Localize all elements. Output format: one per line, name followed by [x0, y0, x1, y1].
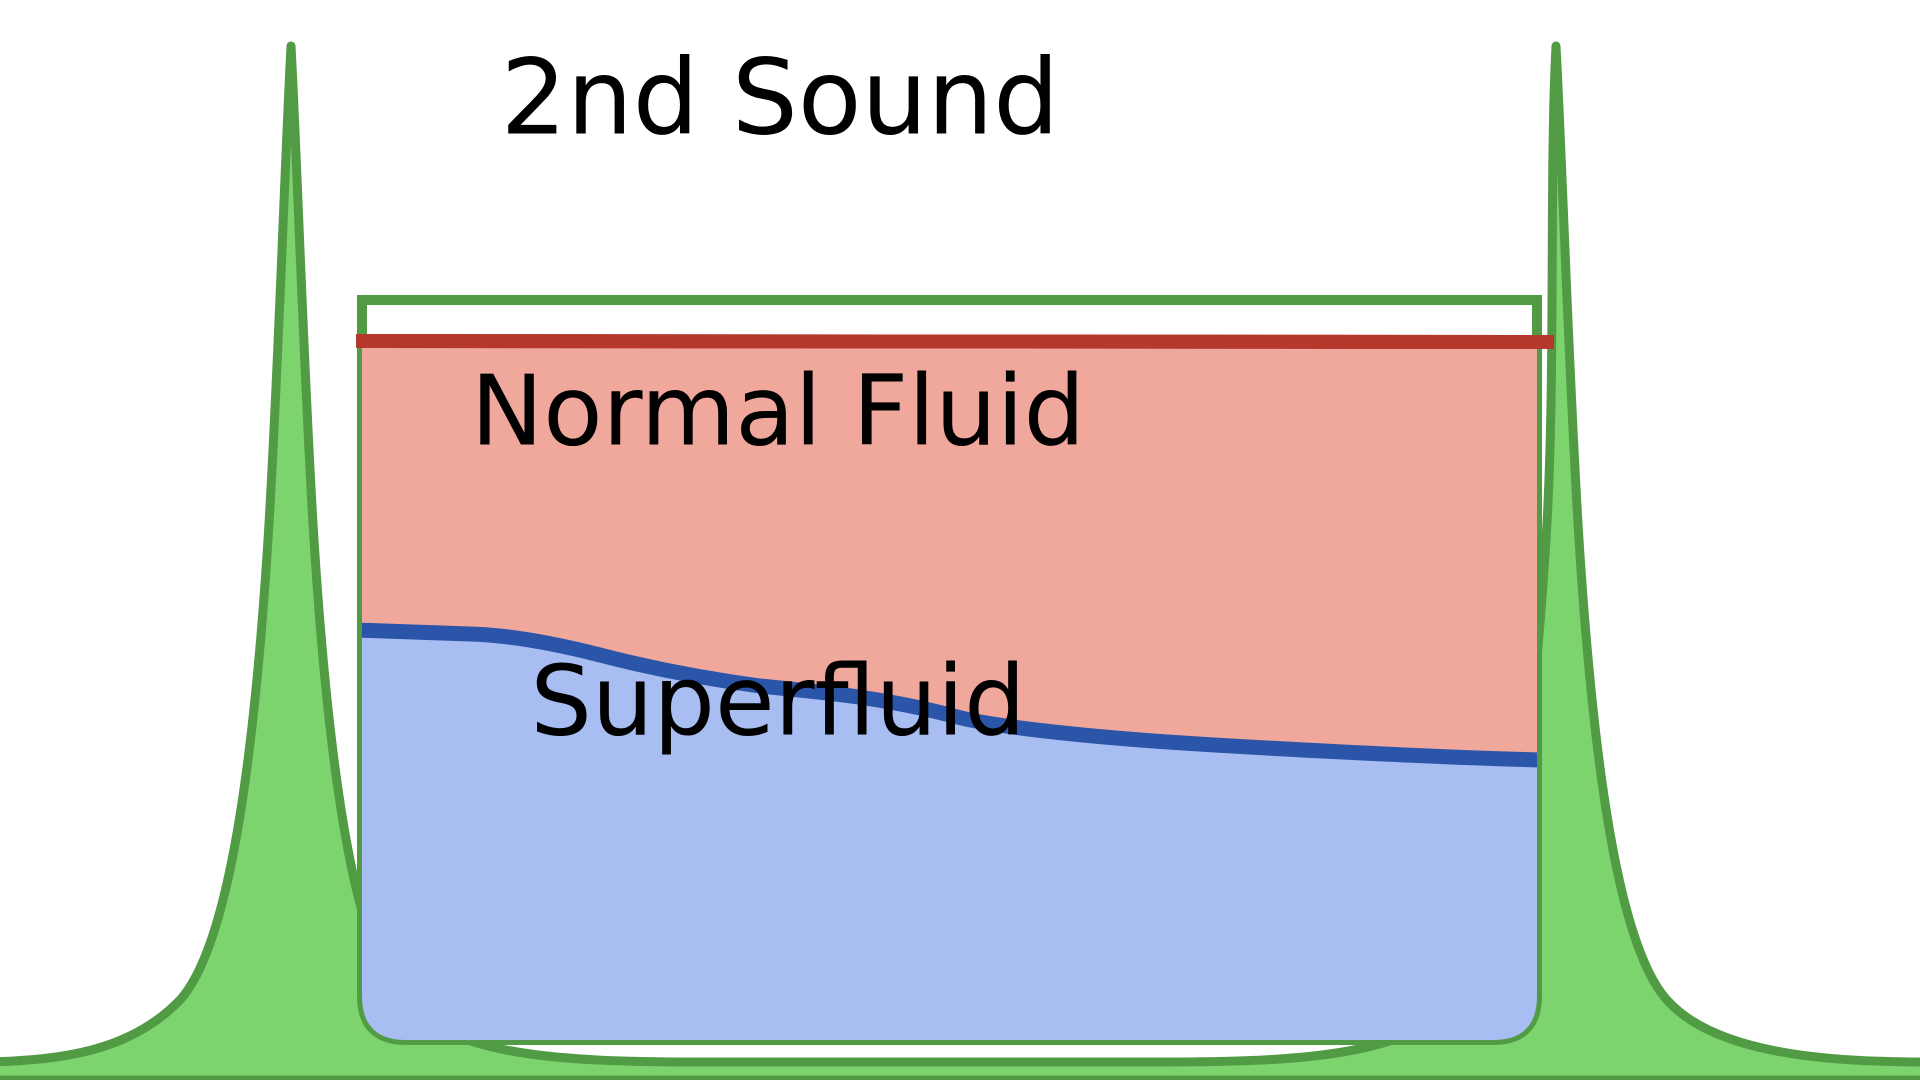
superfluid-label: Superfluid: [530, 644, 1025, 757]
second-sound-diagram: 2nd Sound Normal Fluid Superfluid: [0, 0, 1920, 1080]
diagram-title: 2nd Sound: [501, 36, 1060, 158]
normal-fluid-surface-line-overlay: [356, 341, 1554, 342]
normal-fluid-label: Normal Fluid: [471, 354, 1086, 467]
figure-canvas: 2nd Sound Normal Fluid Superfluid: [0, 0, 1920, 1080]
